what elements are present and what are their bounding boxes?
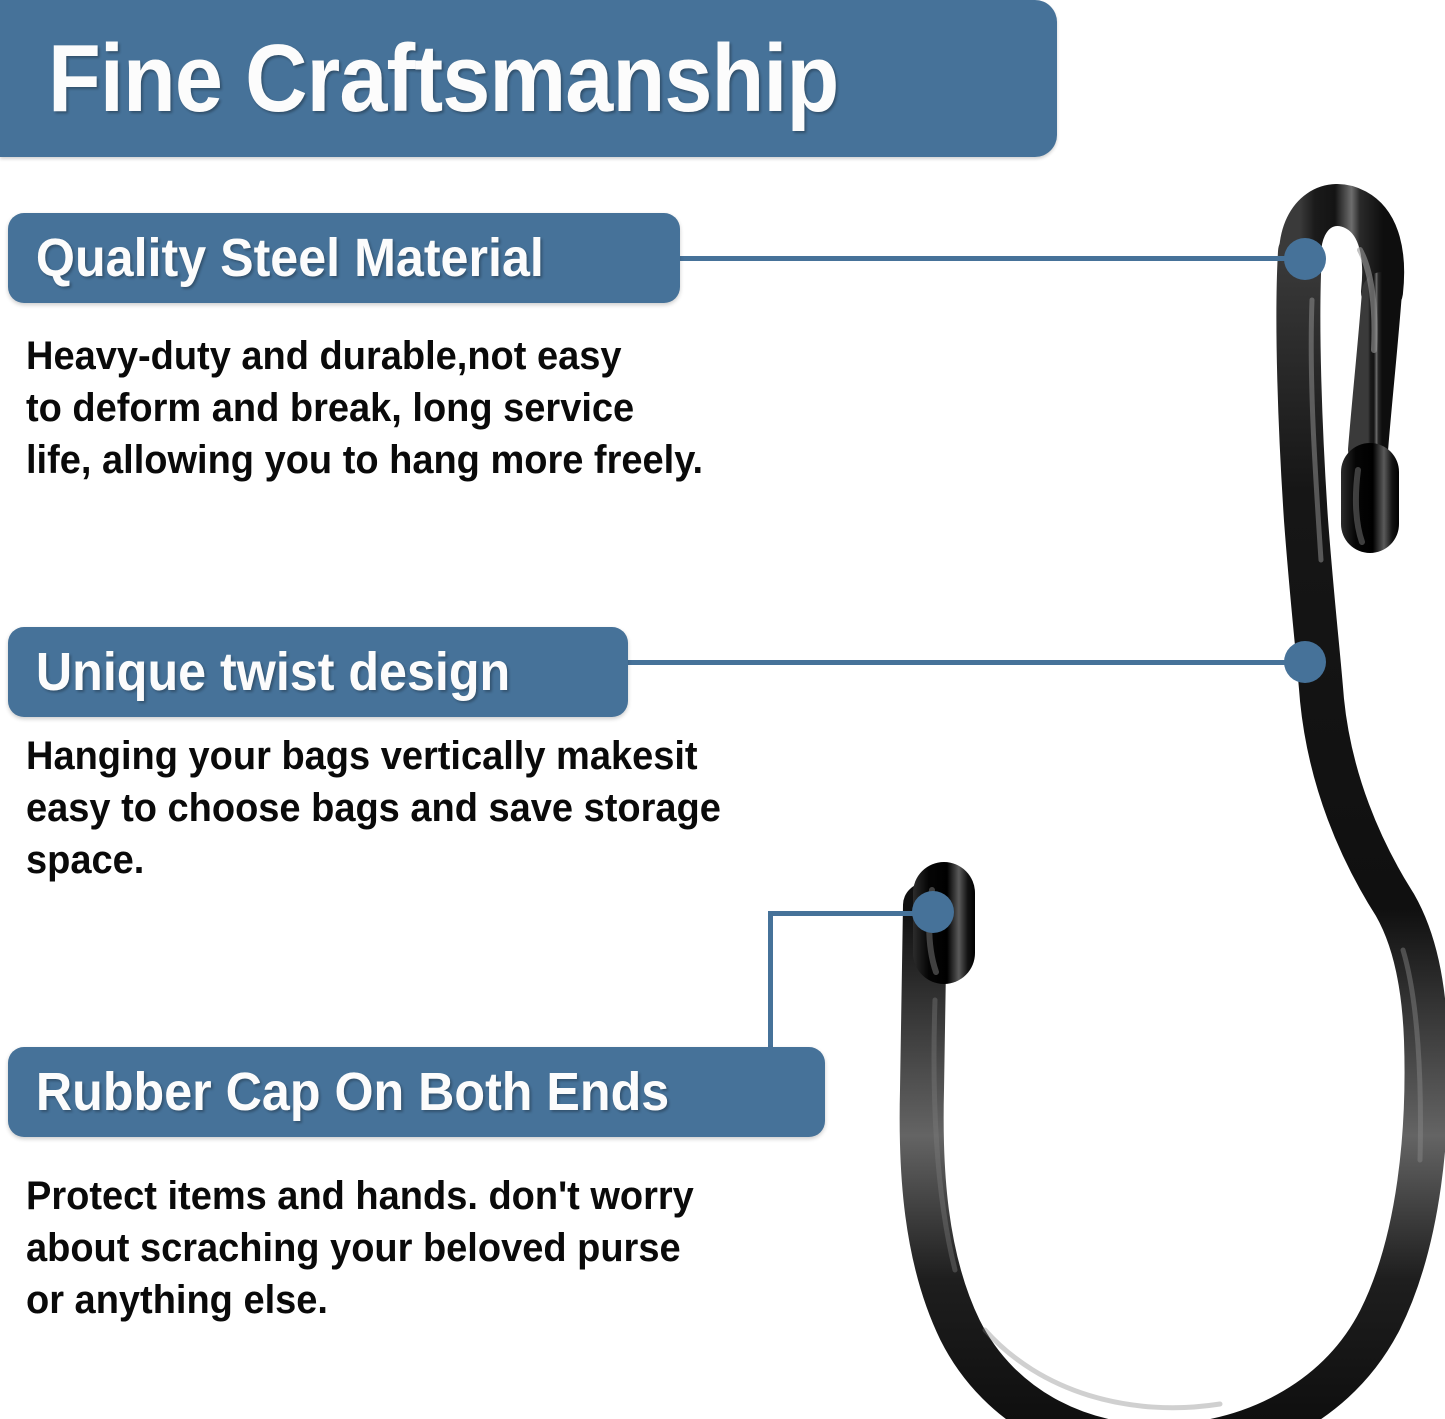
title-banner: Fine Craftsmanship <box>0 0 1057 157</box>
feature-badge-label: Rubber Cap On Both Ends <box>8 1065 669 1119</box>
feature-badge-rubber-cap-on-both-ends: Rubber Cap On Both Ends <box>8 1047 825 1137</box>
feature-badge-unique-twist-design: Unique twist design <box>8 627 628 717</box>
callout-dot-unique-twist-design <box>1284 641 1326 683</box>
rubber-cap-upper <box>1341 443 1399 553</box>
feature-description-quality-steel-material: Heavy-duty and durable,not easy to defor… <box>26 330 767 486</box>
leader-line-feature-1 <box>678 256 1308 261</box>
leader-line-feature-3-vertical <box>768 911 773 1051</box>
feature-badge-label: Quality Steel Material <box>8 231 544 285</box>
product-infographic: Fine Craftsmanship Quality Steel Materia… <box>0 0 1445 1419</box>
feature-description-rubber-cap-on-both-ends: Protect items and hands. don't worry abo… <box>26 1170 777 1326</box>
callout-dot-rubber-cap <box>912 891 954 933</box>
page-title: Fine Craftsmanship <box>48 31 838 127</box>
feature-badge-quality-steel-material: Quality Steel Material <box>8 213 680 303</box>
leader-line-feature-2 <box>626 660 1308 665</box>
feature-badge-label: Unique twist design <box>8 645 510 699</box>
feature-description-unique-twist-design: Hanging your bags vertically makesit eas… <box>26 730 777 886</box>
hook-upper-section <box>922 205 1427 1419</box>
callout-dot-quality-steel-material <box>1284 238 1326 280</box>
